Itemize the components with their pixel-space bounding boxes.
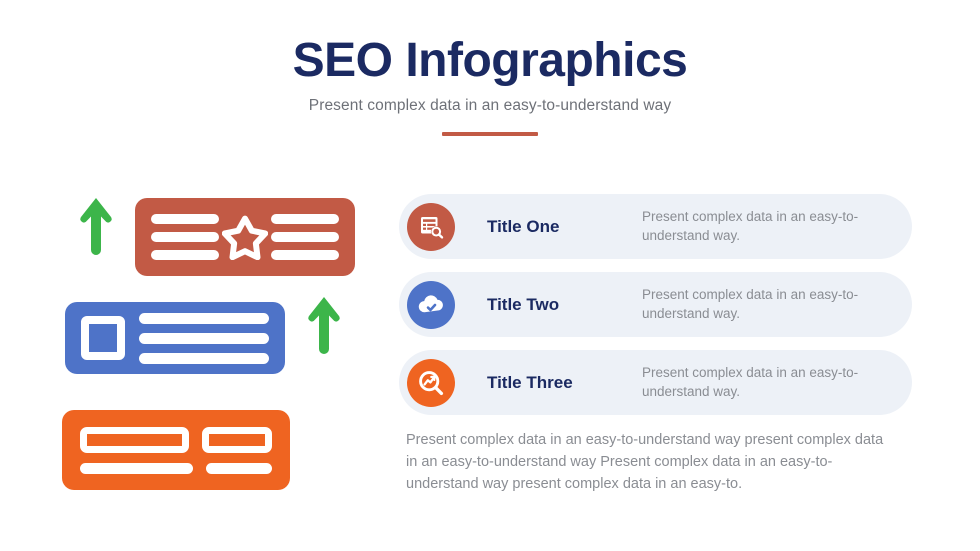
illustration-card-list xyxy=(62,410,290,490)
bar xyxy=(206,463,272,474)
illustration-group xyxy=(0,180,390,510)
bar xyxy=(139,353,269,364)
illustration-card-star xyxy=(135,198,355,276)
outline-row xyxy=(80,427,272,453)
feature-row-one[interactable]: Title One Present complex data in an eas… xyxy=(399,194,912,259)
page-title: SEO Infographics xyxy=(0,34,980,88)
feature-list: Title One Present complex data in an eas… xyxy=(399,194,912,428)
solid-bar-row xyxy=(80,463,272,474)
bar xyxy=(151,232,219,242)
magnifier-trend-chart-icon xyxy=(407,359,455,407)
square-outline-icon xyxy=(81,316,125,360)
feature-row-three[interactable]: Title Three Present complex data in an e… xyxy=(399,350,912,415)
feature-title: Title One xyxy=(487,217,642,237)
feature-description: Present complex data in an easy-to-under… xyxy=(642,286,912,323)
bar-group xyxy=(139,313,269,364)
bar xyxy=(151,250,219,260)
star-outline-icon xyxy=(222,214,268,260)
bar xyxy=(271,232,339,242)
bar-group-right xyxy=(271,214,339,260)
bar-group-left xyxy=(151,214,219,260)
feature-description: Present complex data in an easy-to-under… xyxy=(642,208,912,245)
header: SEO Infographics Present complex data in… xyxy=(0,34,980,136)
feature-description: Present complex data in an easy-to-under… xyxy=(642,364,912,401)
rounded-outline xyxy=(202,427,272,453)
feature-row-two[interactable]: Title Two Present complex data in an eas… xyxy=(399,272,912,337)
bar xyxy=(271,250,339,260)
feature-title: Title Three xyxy=(487,373,642,393)
bar xyxy=(80,463,193,474)
arrow-up-right-icon xyxy=(307,294,341,356)
page-subtitle: Present complex data in an easy-to-under… xyxy=(0,97,980,115)
accent-divider xyxy=(442,132,538,136)
bar xyxy=(151,214,219,224)
seo-audit-checklist-search-icon xyxy=(407,203,455,251)
cloud-check-icon xyxy=(407,281,455,329)
feature-title: Title Two xyxy=(487,295,642,315)
body-paragraph: Present complex data in an easy-to-under… xyxy=(406,430,898,495)
bar xyxy=(139,313,269,324)
arrow-up-left-icon xyxy=(79,195,113,257)
rounded-outline xyxy=(80,427,189,453)
bar xyxy=(271,214,339,224)
bar xyxy=(139,333,269,344)
illustration-card-thumbnail xyxy=(65,302,285,374)
